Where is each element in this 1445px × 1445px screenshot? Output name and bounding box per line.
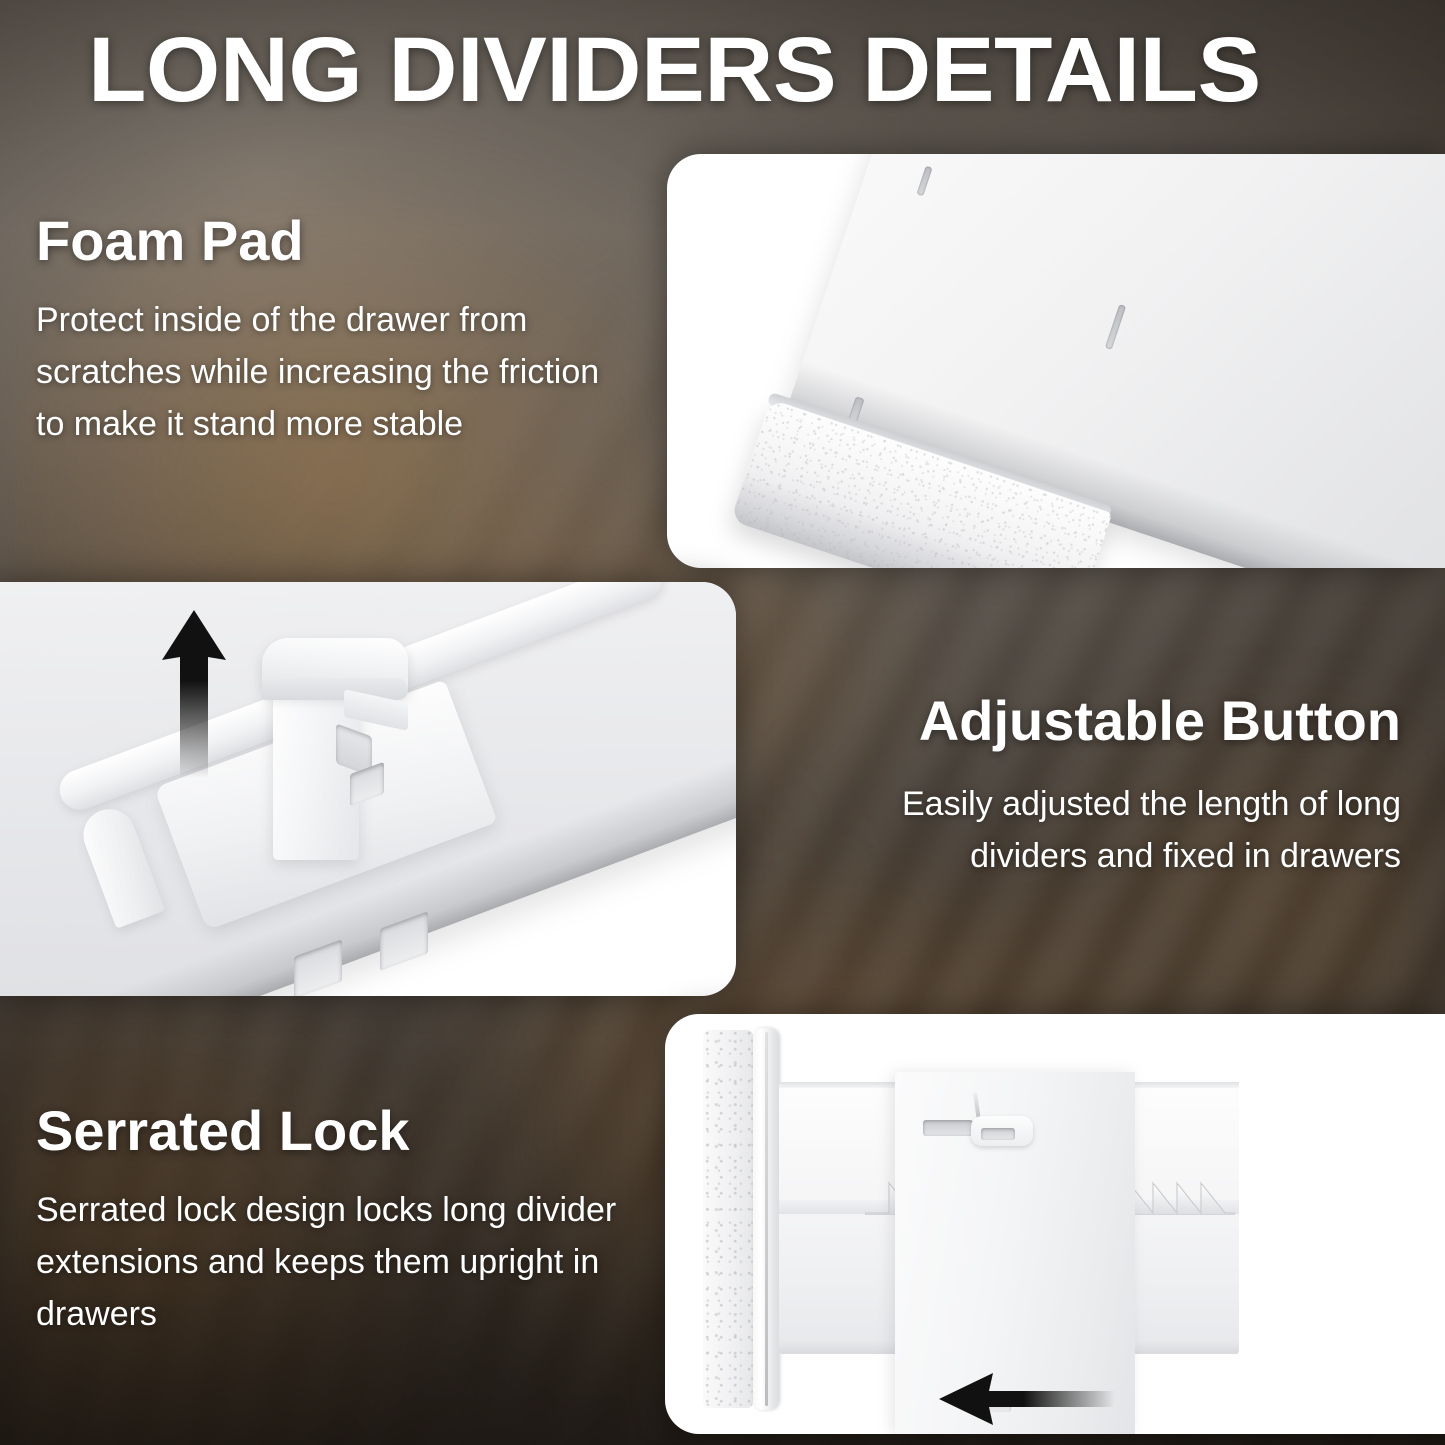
foam-pad-body: Protect inside of the drawer from scratc… — [36, 294, 636, 450]
foam-pad-heading: Foam Pad — [36, 210, 636, 272]
serrated-lock-photo-panel — [665, 1014, 1445, 1434]
adjustable-button-photo-panel — [0, 582, 736, 996]
foam-pad-text-block: Foam Pad Protect inside of the drawer fr… — [36, 210, 636, 450]
adjustable-button-slot — [981, 1128, 1015, 1140]
foam-pad-texture — [703, 1030, 753, 1408]
up-arrow-icon — [154, 608, 234, 778]
serrated-lock-text-block: Serrated Lock Serrated lock design locks… — [36, 1100, 636, 1340]
serrated-lock-body: Serrated lock design locks long divider … — [36, 1184, 636, 1340]
slider-notch — [923, 1120, 973, 1136]
divider-end-cap-seam — [765, 1032, 768, 1406]
page-title: LONG DIVIDERS DETAILS — [88, 22, 1445, 118]
foam-pad-photo-panel — [667, 154, 1445, 568]
serrated-lock-heading: Serrated Lock — [36, 1100, 636, 1162]
adjustable-button-heading: Adjustable Button — [801, 690, 1401, 752]
adjustable-button-body: Easily adjusted the length of long divid… — [801, 778, 1401, 882]
infographic-canvas: LONG DIVIDERS DETAILS — [0, 0, 1445, 1445]
left-arrow-icon — [937, 1372, 1115, 1426]
adjustable-button-text-block: Adjustable Button Easily adjusted the le… — [801, 690, 1401, 882]
adjustable-button-lip — [262, 678, 408, 700]
